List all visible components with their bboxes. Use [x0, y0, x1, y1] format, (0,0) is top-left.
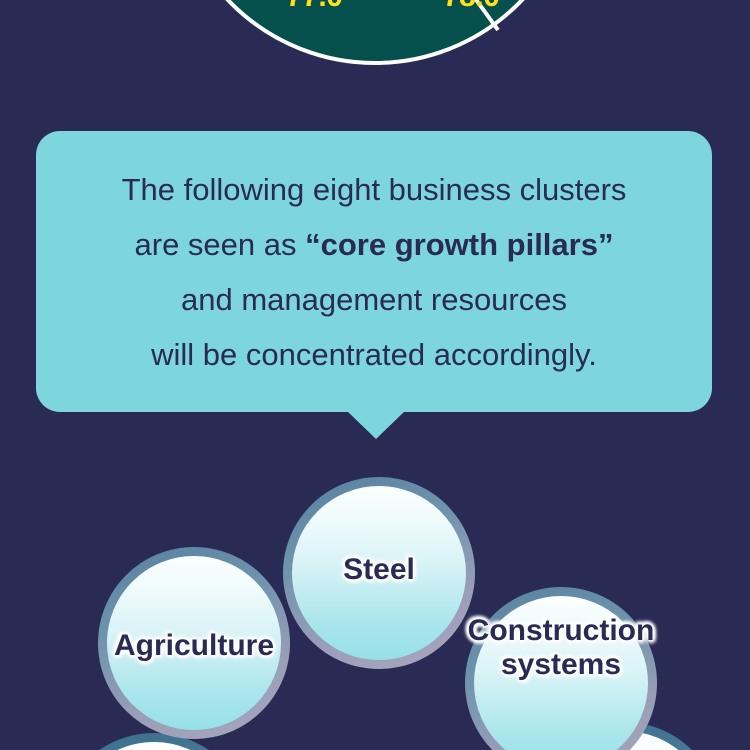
cluster-label-construction: Construction systems: [436, 614, 686, 681]
bubble-text-line-4: will be concentrated accordingly.: [151, 327, 597, 382]
pie-value-label: 77.0: [286, 0, 342, 14]
callout-speech-bubble: The following eight business clusters ar…: [36, 131, 712, 412]
bubble-text-line-2: are seen as “core growth pillars”: [135, 217, 614, 272]
pie-slice-dark-teal: [170, 0, 580, 65]
cluster-label-construction-line-1: Construction: [436, 614, 686, 648]
bubble-line-2-prefix: are seen as: [135, 227, 306, 262]
bubble-line-2-emphasis: “core growth pillars”: [305, 227, 613, 262]
bubble-text-line-3: and management resources: [181, 272, 567, 327]
speech-bubble-tail: [347, 411, 405, 439]
bubble-text-line-1: The following eight business clusters: [122, 162, 627, 217]
cluster-label-agriculture: Agriculture: [78, 629, 310, 663]
pie-value-label: 78.0: [443, 0, 499, 14]
cluster-label-steel: Steel: [283, 553, 475, 587]
pie-chart: 77.0 78.0: [0, 0, 750, 70]
infographic-page: 77.0 78.0 The following eight business c…: [0, 0, 750, 750]
cluster-label-construction-line-2: systems: [436, 648, 686, 682]
pie-chart-svg: [0, 0, 750, 70]
cluster-circle-partial-left[interactable]: [58, 733, 250, 750]
pie-slices: [170, 0, 580, 65]
